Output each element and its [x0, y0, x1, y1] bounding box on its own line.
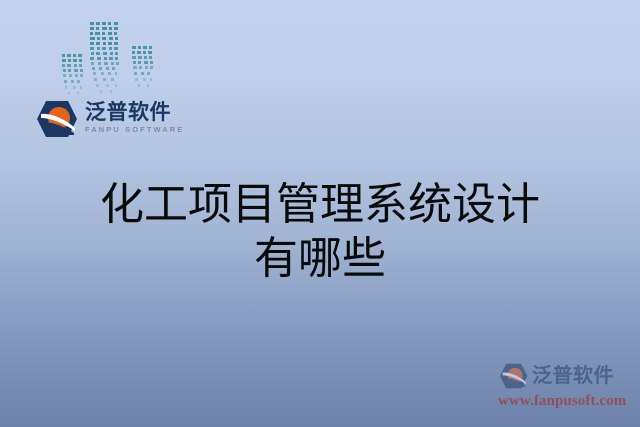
watermark-logo: 泛普软件	[498, 361, 632, 391]
slide-canvas: 泛普软件 FANPU SOFTWARE 化工项目管理系统设计 有哪些 泛普软件 …	[0, 0, 640, 427]
watermark-name-cn: 泛普软件	[532, 366, 614, 386]
pixel-city-skyline-icon	[58, 16, 160, 98]
brand-name-en: FANPU SOFTWARE	[85, 124, 184, 135]
fanpu-hexagon-logo-icon	[498, 363, 528, 389]
brand-logo: 泛普软件 FANPU SOFTWARE	[34, 96, 179, 141]
page-title: 化工项目管理系统设计 有哪些	[0, 178, 640, 285]
brand-name-cn: 泛普软件	[85, 102, 184, 124]
watermark-url: www.fanpusoft.com	[498, 392, 632, 411]
page-title-line-2: 有哪些	[0, 232, 640, 286]
fanpu-hexagon-logo-icon	[34, 100, 78, 138]
page-title-line-1: 化工项目管理系统设计	[0, 178, 640, 232]
watermark: 泛普软件 www.fanpusoft.com	[498, 361, 632, 413]
brand-wordmark: 泛普软件 FANPU SOFTWARE	[85, 102, 184, 135]
